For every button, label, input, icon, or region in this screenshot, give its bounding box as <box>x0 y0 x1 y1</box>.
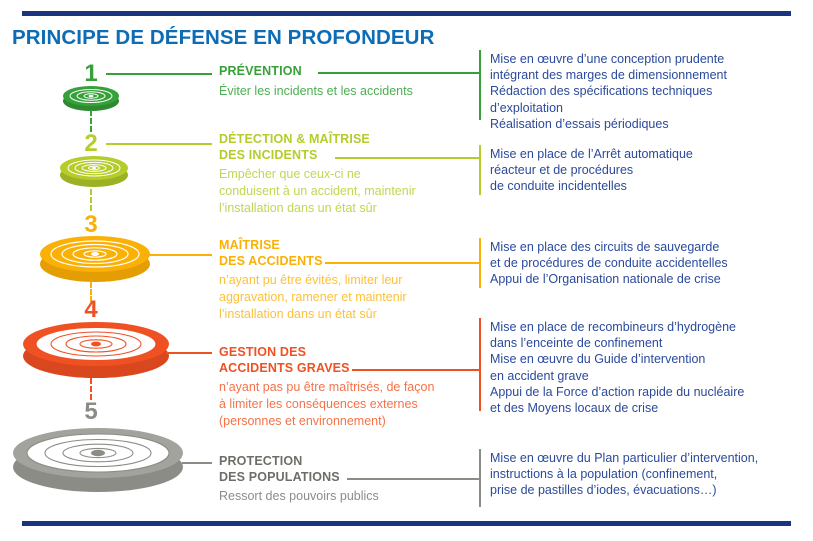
level-1-bracket-stub <box>470 72 479 74</box>
level-4-description-line-2: à limiter les conséquences externes <box>219 396 434 413</box>
level-4-heading-line-1: GESTION DES <box>219 345 434 361</box>
level-1-text-block: PRÉVENTION Éviter les incidents et les a… <box>219 64 413 100</box>
level-5-connector-line <box>182 462 212 464</box>
level-3-detail-text: Mise en place des circuits de sauvegarde… <box>490 239 728 288</box>
level-1-number: 1 <box>71 62 111 86</box>
level-3-heading-rule <box>325 262 470 264</box>
level-4-disc-icon <box>20 318 172 380</box>
level-2-detail-text: Mise en place de l’Arrêt automatique réa… <box>490 146 693 195</box>
level-4-bracket-stub <box>470 369 479 371</box>
level-5-heading-line-1: PROTECTION <box>219 454 379 470</box>
level-4-description-line-1: n’ayant pas pu être maîtrisés, de façon <box>219 379 434 396</box>
level-5-number: 5 <box>71 400 111 424</box>
level-4-dashed-link <box>90 378 92 400</box>
level-2-text-block: DÉTECTION & MAÎTRISE DES INCIDENTS Empêc… <box>219 132 416 217</box>
level-4-bracket <box>479 318 481 411</box>
level-1-dashed-link <box>90 110 92 132</box>
level-4-heading-rule <box>352 369 470 371</box>
level-5-detail-text: Mise en œuvre du Plan particulier d’inte… <box>490 450 758 499</box>
level-3-description-line-3: l’installation dans un état sûr <box>219 306 407 323</box>
level-2-connector-line <box>106 143 212 145</box>
level-5-heading-rule <box>347 478 470 480</box>
level-5-disc-icon <box>10 423 186 495</box>
level-2-dashed-link <box>90 189 92 211</box>
level-3-connector-line <box>146 254 212 256</box>
page-title: PRINCIPE DE DÉFENSE EN PROFONDEUR <box>12 26 434 50</box>
level-3-bracket <box>479 238 481 288</box>
level-4-text-block: GESTION DES ACCIDENTS GRAVES n’ayant pas… <box>219 345 434 430</box>
top-divider-bar <box>22 11 791 16</box>
level-2-bracket <box>479 145 481 195</box>
level-2-description-line-1: Empêcher que ceux-ci ne <box>219 166 416 183</box>
level-1-detail-text: Mise en œuvre d’une conception prudente … <box>490 51 727 132</box>
level-1-heading-rule <box>318 72 470 74</box>
level-5-bracket <box>479 449 481 507</box>
level-1-description-line-1: Éviter les incidents et les accidents <box>219 83 413 100</box>
level-4-detail-text: Mise en place de recombineurs d’hydrogèn… <box>490 319 744 416</box>
level-4-connector-line <box>166 352 212 354</box>
level-2-heading-line-1: DÉTECTION & MAÎTRISE <box>219 132 416 148</box>
level-3-text-block: MAÎTRISE DES ACCIDENTS n’ayant pu être é… <box>219 238 407 323</box>
level-1-bracket <box>479 50 481 120</box>
level-1-connector-line <box>106 73 212 75</box>
level-2-heading-line-2: DES INCIDENTS <box>219 148 416 164</box>
level-3-description-line-2: aggravation, ramener et maintenir <box>219 289 407 306</box>
level-3-disc-icon <box>38 232 152 284</box>
level-2-description-line-2: conduisent à un accident, maintenir <box>219 183 416 200</box>
level-5-bracket-stub <box>470 478 479 480</box>
level-1-disc-icon <box>61 84 121 112</box>
level-5-description-line-1: Ressort des pouvoirs publics <box>219 488 379 505</box>
level-3-bracket-stub <box>470 262 479 264</box>
level-2-disc-icon <box>58 153 130 189</box>
level-4-description-line-3: (personnes et environnement) <box>219 413 434 430</box>
level-3-heading-line-1: MAÎTRISE <box>219 238 407 254</box>
level-2-description-line-3: l’installation dans un état sûr <box>219 200 416 217</box>
level-3-description-line-1: n’ayant pu être évités, limiter leur <box>219 272 407 289</box>
level-2-bracket-stub <box>470 157 479 159</box>
bottom-divider-bar <box>22 521 791 526</box>
level-2-heading-rule <box>335 157 470 159</box>
infographic-root: PRINCIPE DE DÉFENSE EN PROFONDEUR 1 PRÉV… <box>0 0 813 541</box>
